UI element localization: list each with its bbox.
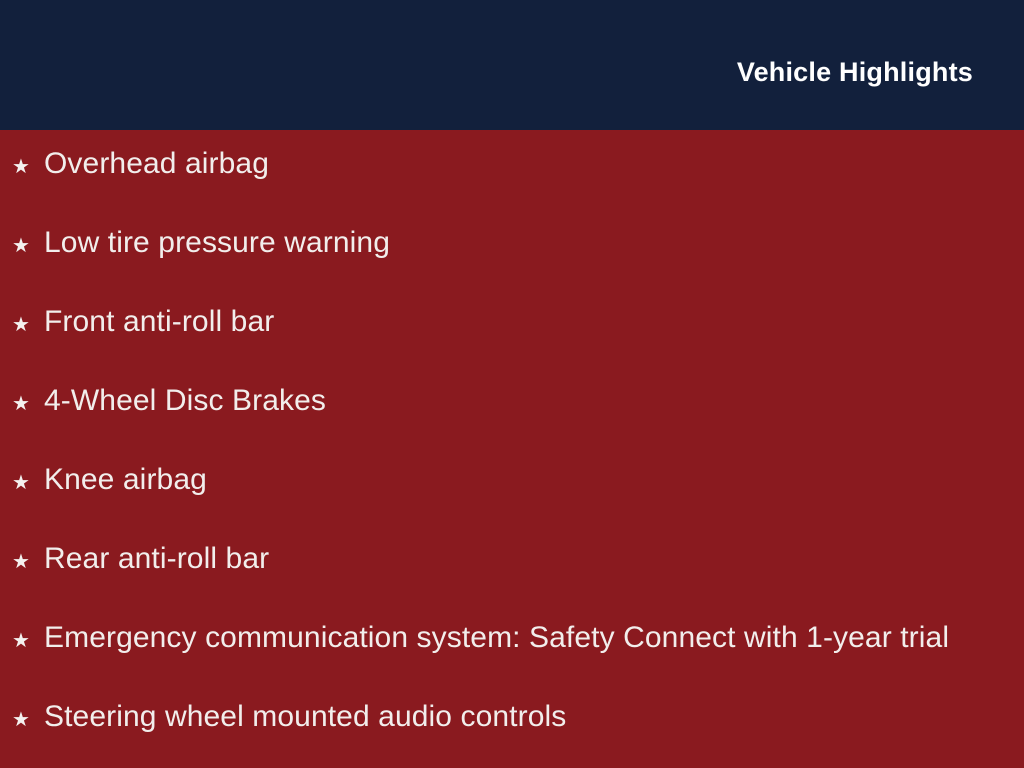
feature-label: 4-Wheel Disc Brakes [44,386,326,416]
star-icon: ★ [12,157,44,177]
list-item: ★ Low tire pressure warning [0,228,1024,307]
list-item: ★ Front anti-roll bar [0,307,1024,386]
star-icon: ★ [12,710,44,730]
star-icon: ★ [12,631,44,651]
feature-label: Overhead airbag [44,149,269,179]
star-icon: ★ [12,236,44,256]
feature-label: Steering wheel mounted audio controls [44,702,566,732]
slide-body: ★ Overhead airbag ★ Low tire pressure wa… [0,130,1024,768]
list-item: ★ Steering wheel mounted audio controls [0,702,1024,768]
slide-header: Vehicle Highlights [0,0,1024,130]
page-title: Vehicle Highlights [737,43,1024,88]
list-item: ★ 4-Wheel Disc Brakes [0,386,1024,465]
list-item: ★ Rear anti-roll bar [0,544,1024,623]
feature-label: Low tire pressure warning [44,228,390,258]
star-icon: ★ [12,552,44,572]
star-icon: ★ [12,315,44,335]
list-item: ★ Emergency communication system: Safety… [0,623,1024,702]
feature-label: Emergency communication system: Safety C… [44,623,949,653]
feature-label: Rear anti-roll bar [44,544,269,574]
list-item: ★ Overhead airbag [0,149,1024,228]
list-item: ★ Knee airbag [0,465,1024,544]
vehicle-feature-list: ★ Overhead airbag ★ Low tire pressure wa… [0,149,1024,768]
star-icon: ★ [12,394,44,414]
feature-label: Knee airbag [44,465,207,495]
feature-label: Front anti-roll bar [44,307,274,337]
star-icon: ★ [12,473,44,493]
vehicle-highlights-slide: Vehicle Highlights ★ Overhead airbag ★ L… [0,0,1024,768]
